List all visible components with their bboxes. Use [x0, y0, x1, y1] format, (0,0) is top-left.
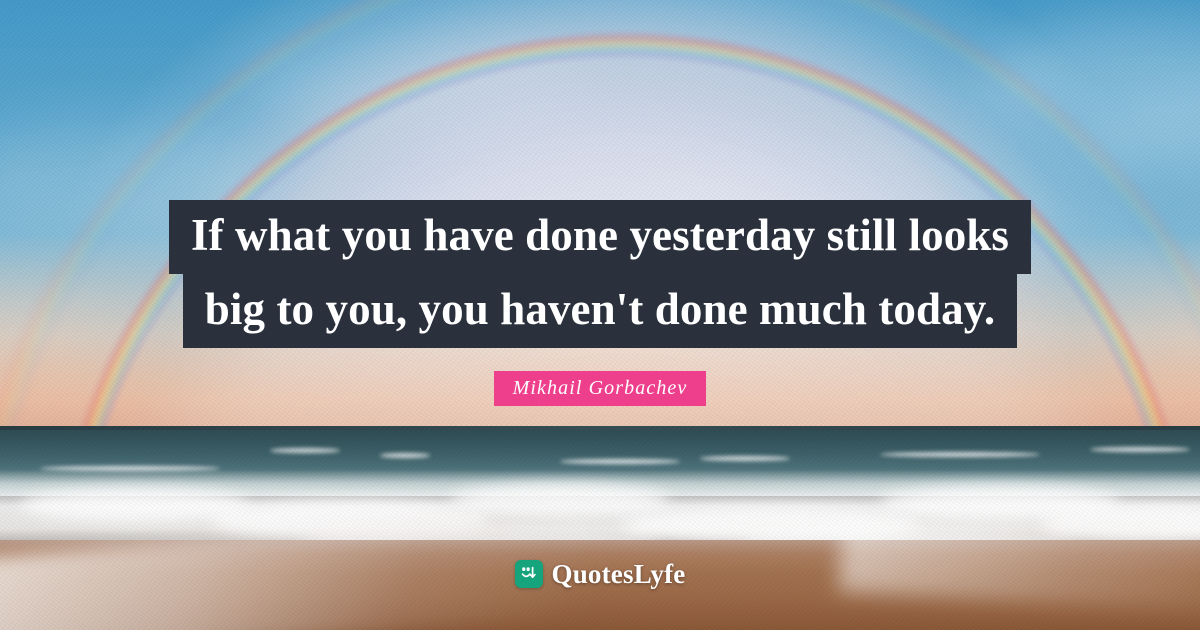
brand-name: QuotesLyfe — [552, 561, 686, 588]
quote-text: If what you have done yesterday still lo… — [0, 200, 1200, 348]
smiley-quote-icon — [515, 560, 543, 588]
author-name-badge: Mikhail Gorbachev — [494, 371, 707, 406]
quote-line: If what you have done yesterday still lo… — [169, 200, 1031, 274]
quote-card: If what you have done yesterday still lo… — [0, 0, 1200, 630]
quote-line: big to you, you haven't done much today. — [183, 274, 1017, 348]
author-attribution: Mikhail Gorbachev — [0, 371, 1200, 406]
brand-watermark: QuotesLyfe — [0, 560, 1200, 588]
